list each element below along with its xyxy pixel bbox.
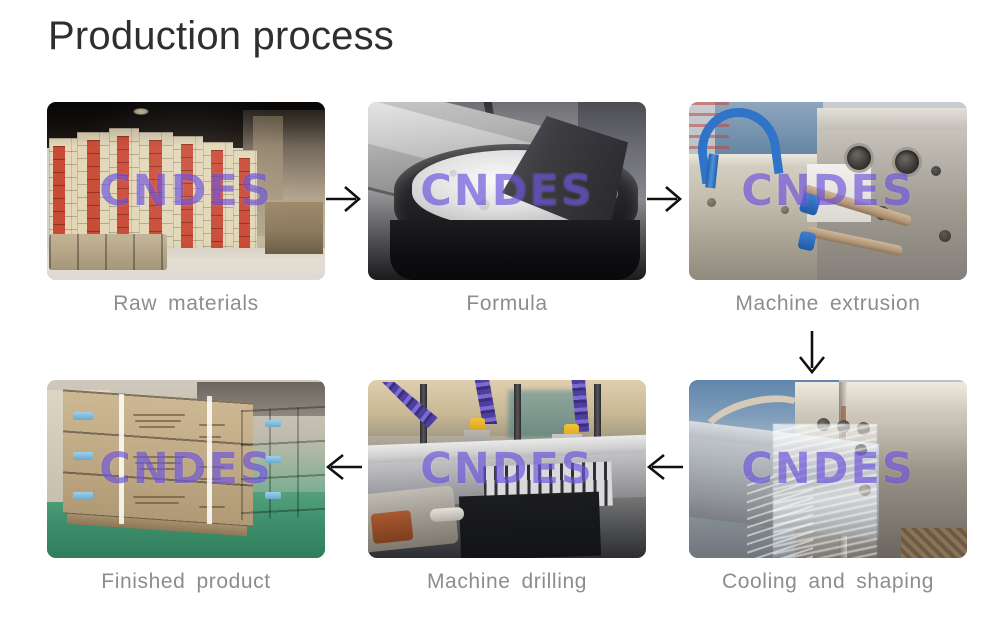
water-spray bbox=[747, 476, 813, 558]
caption-word: Finished bbox=[101, 570, 185, 593]
carton-logo bbox=[73, 452, 93, 460]
caption-word: Machine bbox=[735, 292, 819, 315]
caption-word: Raw bbox=[113, 292, 157, 315]
die-hole bbox=[931, 166, 941, 176]
carton-text-line bbox=[133, 496, 185, 498]
step-cooling-and-shaping: CNDES Coolingandshaping bbox=[689, 380, 967, 594]
photo-formula: CNDES bbox=[368, 102, 646, 280]
packing-strap bbox=[207, 396, 212, 524]
caption-finished-product: Finishedproduct bbox=[47, 570, 325, 594]
carton-text-line bbox=[199, 466, 225, 468]
carton-text-line bbox=[135, 420, 181, 422]
step-finished-product: CNDES Finishedproduct bbox=[47, 380, 325, 594]
carton-text-line bbox=[199, 506, 225, 508]
caption-formula: Formula bbox=[368, 292, 646, 316]
carton-text-line bbox=[133, 414, 185, 416]
arrow-step5-to-step6 bbox=[325, 450, 363, 484]
caption-word: materials bbox=[168, 292, 259, 315]
photo-shading bbox=[47, 102, 325, 280]
floor-grate bbox=[901, 528, 967, 558]
step-formula: CNDES Formula bbox=[368, 102, 646, 316]
step-machine-drilling: CNDES Machinedrilling bbox=[368, 380, 646, 594]
machine-shadow bbox=[459, 492, 601, 558]
caption-word: Machine bbox=[427, 570, 511, 593]
carton-text-line bbox=[135, 502, 179, 504]
extruder-bolt bbox=[707, 198, 716, 207]
page-title: Production process bbox=[48, 12, 394, 60]
arrow-step1-to-step2 bbox=[325, 182, 363, 216]
caption-machine-drilling: Machinedrilling bbox=[368, 570, 646, 594]
caption-word: Formula bbox=[466, 292, 547, 315]
carton-logo bbox=[73, 492, 93, 500]
carton-text-line bbox=[135, 462, 181, 464]
caption-word: extrusion bbox=[830, 292, 921, 315]
die-hole bbox=[847, 146, 871, 170]
caption-word: product bbox=[196, 570, 270, 593]
carton-logo bbox=[265, 420, 281, 427]
arrow-step2-to-step3 bbox=[646, 182, 684, 216]
caption-word: shaping bbox=[856, 570, 934, 593]
photo-cooling-and-shaping: CNDES bbox=[689, 380, 967, 558]
carton-logo bbox=[73, 412, 93, 420]
motor-rust bbox=[371, 510, 414, 544]
photo-machine-extrusion: CNDES bbox=[689, 102, 967, 280]
caption-cooling-and-shaping: Coolingandshaping bbox=[689, 570, 967, 594]
step-machine-extrusion: CNDES Machineextrusion bbox=[689, 102, 967, 316]
caption-machine-extrusion: Machineextrusion bbox=[689, 292, 967, 316]
caption-word: drilling bbox=[522, 570, 588, 593]
caption-word: Cooling bbox=[722, 570, 797, 593]
photo-finished-product: CNDES bbox=[47, 380, 325, 558]
step-raw-materials: CNDES Rawmaterials bbox=[47, 102, 325, 316]
arrow-step4-to-step5 bbox=[646, 450, 684, 484]
carton-logo bbox=[265, 456, 281, 463]
mixer-drum-front bbox=[390, 220, 640, 280]
carton-text-line bbox=[139, 426, 175, 428]
carton-text-line bbox=[139, 468, 175, 470]
carton-stack-right bbox=[241, 406, 325, 520]
photo-raw-materials: CNDES bbox=[47, 102, 325, 280]
extruder-die-top bbox=[817, 108, 967, 130]
arrow-step3-to-step4 bbox=[795, 330, 829, 376]
carton-text-line bbox=[199, 424, 225, 426]
photo-machine-drilling: CNDES bbox=[368, 380, 646, 558]
cooling-tank-top bbox=[795, 382, 967, 412]
production-process-page: Production process bbox=[0, 0, 1000, 628]
carton-text-line bbox=[133, 456, 185, 458]
packing-strap bbox=[119, 394, 124, 524]
die-hole bbox=[939, 230, 951, 242]
drill-chuck bbox=[430, 507, 465, 522]
extruder-bolt bbox=[781, 206, 789, 214]
caption-word: and bbox=[808, 570, 845, 593]
carton-logo bbox=[265, 492, 281, 499]
caption-raw-materials: Rawmaterials bbox=[47, 292, 325, 316]
die-hole bbox=[895, 150, 919, 174]
